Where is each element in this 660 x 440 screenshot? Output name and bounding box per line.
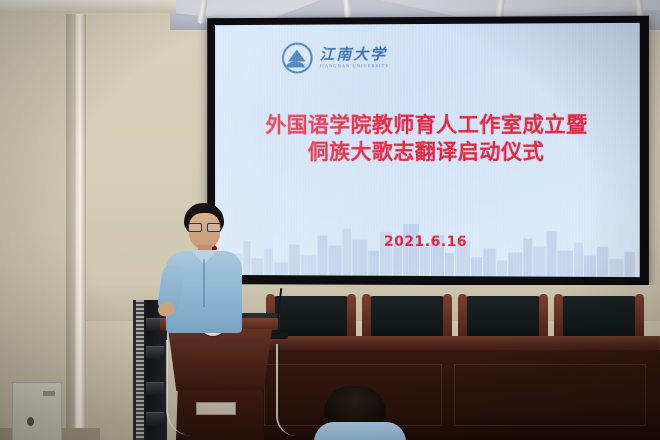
skyline-building	[264, 248, 273, 275]
podium-nameplate	[196, 402, 236, 415]
skyline-building	[597, 247, 608, 277]
slide-date: 2021.6.16	[215, 233, 640, 251]
conference-table-front	[250, 350, 660, 440]
table-panel-2	[454, 364, 646, 426]
skyline-building	[558, 251, 573, 277]
skyline-building	[609, 259, 623, 277]
projection-screen-frame: 江南大学 JIANGNAN UNIVERSITY 外国语学院教师育人工作室成立暨…	[207, 16, 649, 287]
rack-unit-3	[146, 382, 164, 395]
skyline-building	[533, 246, 545, 276]
wall-pillar	[74, 14, 86, 440]
skyline-building	[471, 257, 482, 276]
skyline-building	[251, 258, 263, 275]
jiangnan-university-emblem-icon	[282, 43, 313, 74]
eyeglasses-icon	[188, 223, 221, 230]
rack-unit-2	[146, 346, 164, 359]
rack-unit-4	[146, 412, 164, 425]
slide-title-line-2: 侗族大歌志翻译启动仪式	[215, 139, 640, 166]
speaker-shirt-placket	[203, 259, 205, 307]
slide-title-line-1: 外国语学院教师育人工作室成立暨	[265, 113, 587, 137]
skyline-building	[625, 252, 635, 277]
logo-text-block: 江南大学 JIANGNAN UNIVERSITY	[320, 47, 390, 69]
skyline-building	[584, 256, 596, 277]
logo-name-cn: 江南大学	[320, 47, 390, 62]
rack-scale-rail	[136, 300, 144, 440]
electrical-panel-box	[12, 382, 62, 440]
cable-2	[276, 344, 296, 436]
skyline-building	[508, 252, 522, 276]
speaker-person	[160, 203, 244, 333]
audience-person	[318, 386, 404, 440]
skyline-building	[368, 251, 379, 276]
chair-3	[464, 296, 542, 340]
skyline-building	[445, 253, 454, 276]
slide-title: 外国语学院教师育人工作室成立暨 侗族大歌志翻译启动仪式	[215, 112, 640, 166]
skyline-building	[420, 247, 430, 276]
logo-name-en: JIANGNAN UNIVERSITY	[320, 64, 390, 69]
skyline-building	[328, 246, 341, 276]
skyline-building	[483, 248, 496, 276]
skyline-building	[274, 262, 288, 275]
left-wall	[0, 0, 74, 440]
audience-shoulders	[314, 422, 406, 440]
photo-scene: 江南大学 JIANGNAN UNIVERSITY 外国语学院教师育人工作室成立暨…	[0, 0, 660, 440]
panel-knob-icon	[27, 417, 34, 426]
skyline-building	[497, 260, 507, 276]
slide-logo: 江南大学 JIANGNAN UNIVERSITY	[282, 42, 390, 73]
cable-1	[166, 340, 192, 436]
chair-2	[368, 296, 446, 340]
left-wall-top-edge	[0, 0, 176, 13]
projection-screen: 江南大学 JIANGNAN UNIVERSITY 外国语学院教师育人工作室成立暨…	[215, 23, 640, 277]
skyline-building	[301, 255, 317, 275]
chair-4	[560, 296, 638, 340]
